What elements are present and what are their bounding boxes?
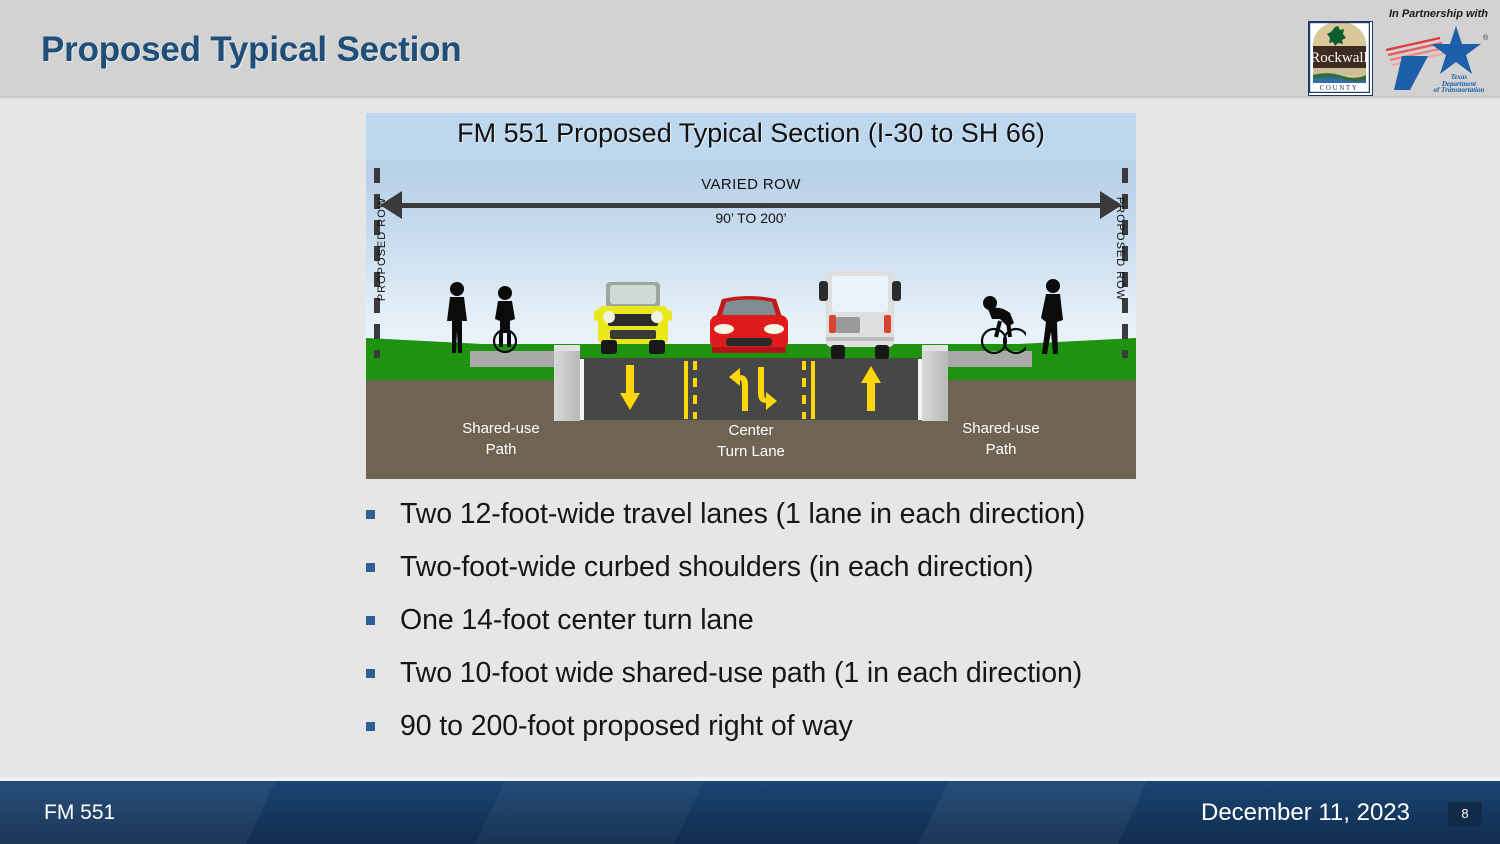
header-divider: [0, 96, 1500, 99]
pedestrian-silhouette: [444, 281, 470, 353]
red-sedan: [706, 293, 792, 361]
bullet-text: Two 12-foot-wide travel lanes (1 lane in…: [400, 498, 1085, 531]
partnership-label: In Partnership with: [1389, 8, 1488, 20]
slide-footer: FM 551 December 11, 2023 8: [0, 781, 1500, 844]
rockwall-county-logo: Rockwall COUNTY: [1308, 21, 1373, 96]
label-center-turn-lane: Center Turn Lane: [656, 420, 846, 462]
label-shared-use-path-left: Shared-use Path: [406, 418, 596, 460]
bullet-marker-icon: [366, 505, 400, 522]
list-item: Two-foot-wide curbed shoulders (in each …: [366, 551, 1266, 584]
txdot-logo: ® Texas Department of Transportation: [1384, 24, 1490, 92]
bullet-marker-icon: [366, 558, 400, 575]
row-dimension-line: [388, 203, 1114, 208]
bullet-marker-icon: [366, 717, 400, 734]
yellow-suv: [592, 276, 674, 360]
footer-date: December 11, 2023: [1201, 799, 1410, 827]
row-dimension-value: 90’ TO 200’: [366, 210, 1136, 226]
typical-section-diagram: FM 551 Proposed Typical Section (I-30 to…: [366, 113, 1136, 479]
page-title: Proposed Typical Section: [41, 30, 461, 70]
curb-left: [554, 351, 580, 421]
footer-project-label: FM 551: [44, 801, 115, 825]
svg-text:of Transportation: of Transportation: [1434, 86, 1485, 92]
list-item: 90 to 200-foot proposed right of way: [366, 710, 1266, 743]
bullet-marker-icon: [366, 664, 400, 681]
bullet-marker-icon: [366, 611, 400, 628]
list-item: Two 12-foot-wide travel lanes (1 lane in…: [366, 498, 1266, 531]
white-van: [818, 269, 902, 361]
feature-bullet-list: Two 12-foot-wide travel lanes (1 lane in…: [366, 498, 1266, 763]
shared-use-path-left-surface: [470, 351, 560, 367]
label-shared-use-path-right: Shared-use Path: [906, 418, 1096, 460]
slide-number: 8: [1448, 802, 1482, 826]
two-way-turn-arrow-icon: [728, 365, 778, 413]
center-lane-dashed-line-right: [802, 361, 806, 419]
center-lane-dashed-line-left: [693, 361, 697, 419]
svg-text:Rockwall: Rockwall: [1310, 50, 1368, 66]
list-item: Two 10-foot wide shared-use path (1 in e…: [366, 657, 1266, 690]
diagram-title: FM 551 Proposed Typical Section (I-30 to…: [366, 118, 1136, 149]
cyclist-silhouette-left: [488, 285, 522, 353]
logo-group: In Partnership with Rockwall COUNTY: [1292, 4, 1492, 94]
rockwall-county-seal-icon: Rockwall COUNTY: [1309, 22, 1370, 93]
bullet-text: Two-foot-wide curbed shoulders (in each …: [400, 551, 1033, 584]
center-lane-solid-line-left: [684, 361, 688, 419]
road-edge-line-left: [580, 359, 584, 420]
svg-text:COUNTY: COUNTY: [1320, 84, 1359, 92]
cyclist-silhouette-right: [980, 291, 1026, 355]
list-item: One 14-foot center turn lane: [366, 604, 1266, 637]
bullet-text: One 14-foot center turn lane: [400, 604, 754, 637]
varied-row-label: VARIED ROW: [366, 176, 1136, 193]
road-edge-line-right: [918, 359, 922, 420]
runner-silhouette: [1038, 278, 1066, 354]
bullet-text: 90 to 200-foot proposed right of way: [400, 710, 853, 743]
txdot-star-icon: ® Texas Department of Transportation: [1384, 24, 1490, 92]
up-arrow-icon: [860, 365, 882, 411]
center-lane-solid-line-right: [811, 361, 815, 419]
bullet-text: Two 10-foot wide shared-use path (1 in e…: [400, 657, 1082, 690]
curb-right: [922, 351, 948, 421]
svg-text:®: ®: [1483, 34, 1489, 42]
down-arrow-icon: [619, 365, 641, 411]
